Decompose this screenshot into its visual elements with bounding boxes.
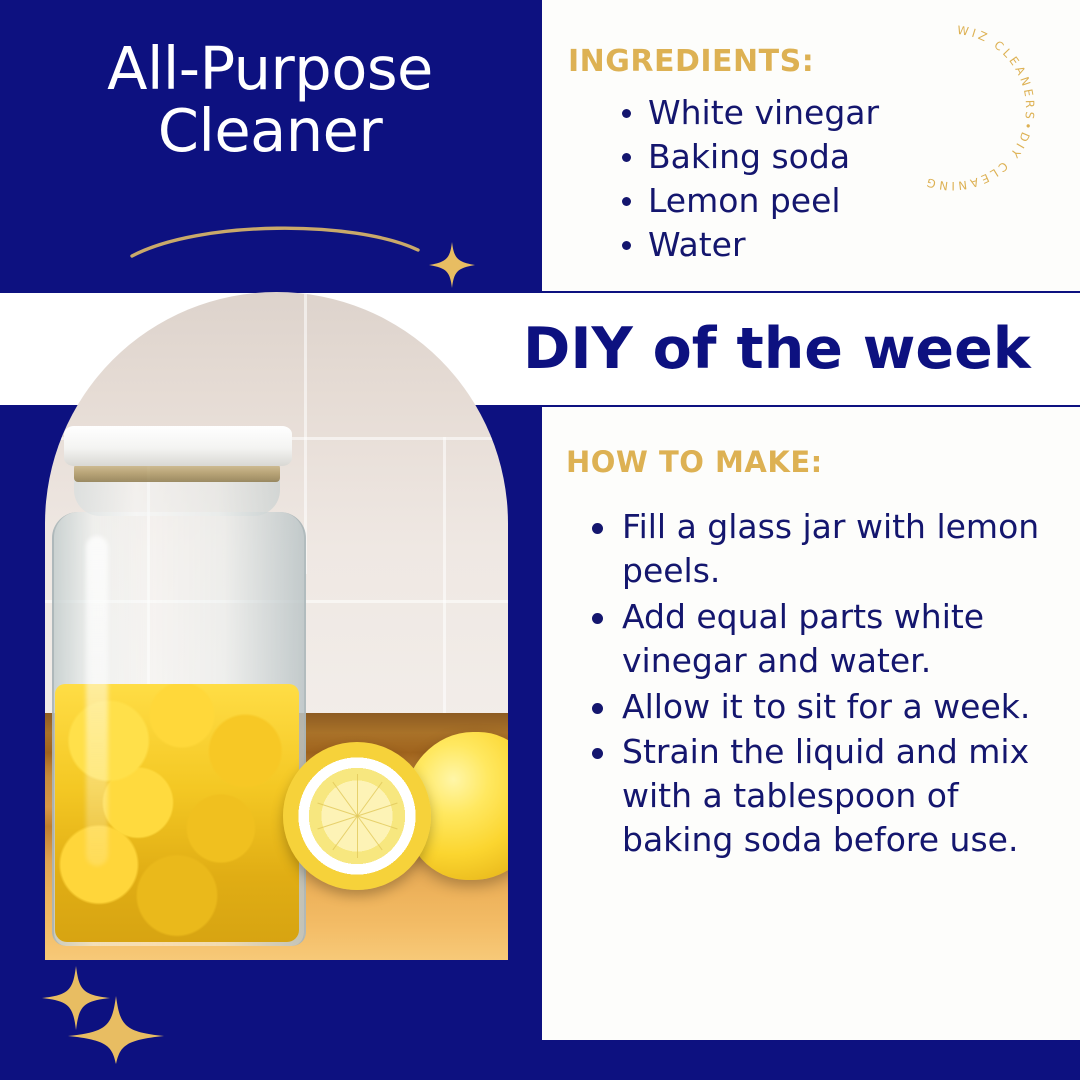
recipe-photo (45, 292, 508, 960)
howto-steps-list: Fill a glass jar with lemon peels. Add e… (566, 505, 1062, 862)
poster-canvas: All-Purpose Cleaner INGREDIENTS: White v… (0, 0, 1080, 1080)
list-item: Strain the liquid and mix with a tablesp… (588, 730, 1062, 862)
sparkle-cluster-icon (38, 962, 168, 1067)
diy-banner-text: DIY of the week (523, 316, 1031, 382)
list-item: Fill a glass jar with lemon peels. (588, 505, 1062, 593)
jar-neck (74, 480, 280, 516)
jar-highlight (86, 536, 108, 866)
brand-logo-badge: WIZ CLEANERS•DIY CLEANING (852, 8, 1052, 208)
halved-lemon (283, 742, 431, 890)
page-title: All-Purpose Cleaner (107, 38, 433, 162)
gold-swoosh-decoration (130, 218, 430, 268)
list-item: Water (620, 223, 1080, 267)
sparkle-star-icon (427, 240, 477, 290)
photo-scene (45, 292, 508, 960)
howto-heading: HOW TO MAKE: (566, 445, 1062, 479)
list-item: Allow it to sit for a week. (588, 685, 1062, 729)
list-item: Add equal parts white vinegar and water. (588, 595, 1062, 683)
brand-logo-text: WIZ CLEANERS•DIY CLEANING (922, 23, 1037, 193)
glass-jar (52, 426, 302, 946)
jar-lid (64, 426, 292, 466)
jar-ring (74, 464, 280, 482)
howto-panel: HOW TO MAKE: Fill a glass jar with lemon… (542, 407, 1080, 1040)
